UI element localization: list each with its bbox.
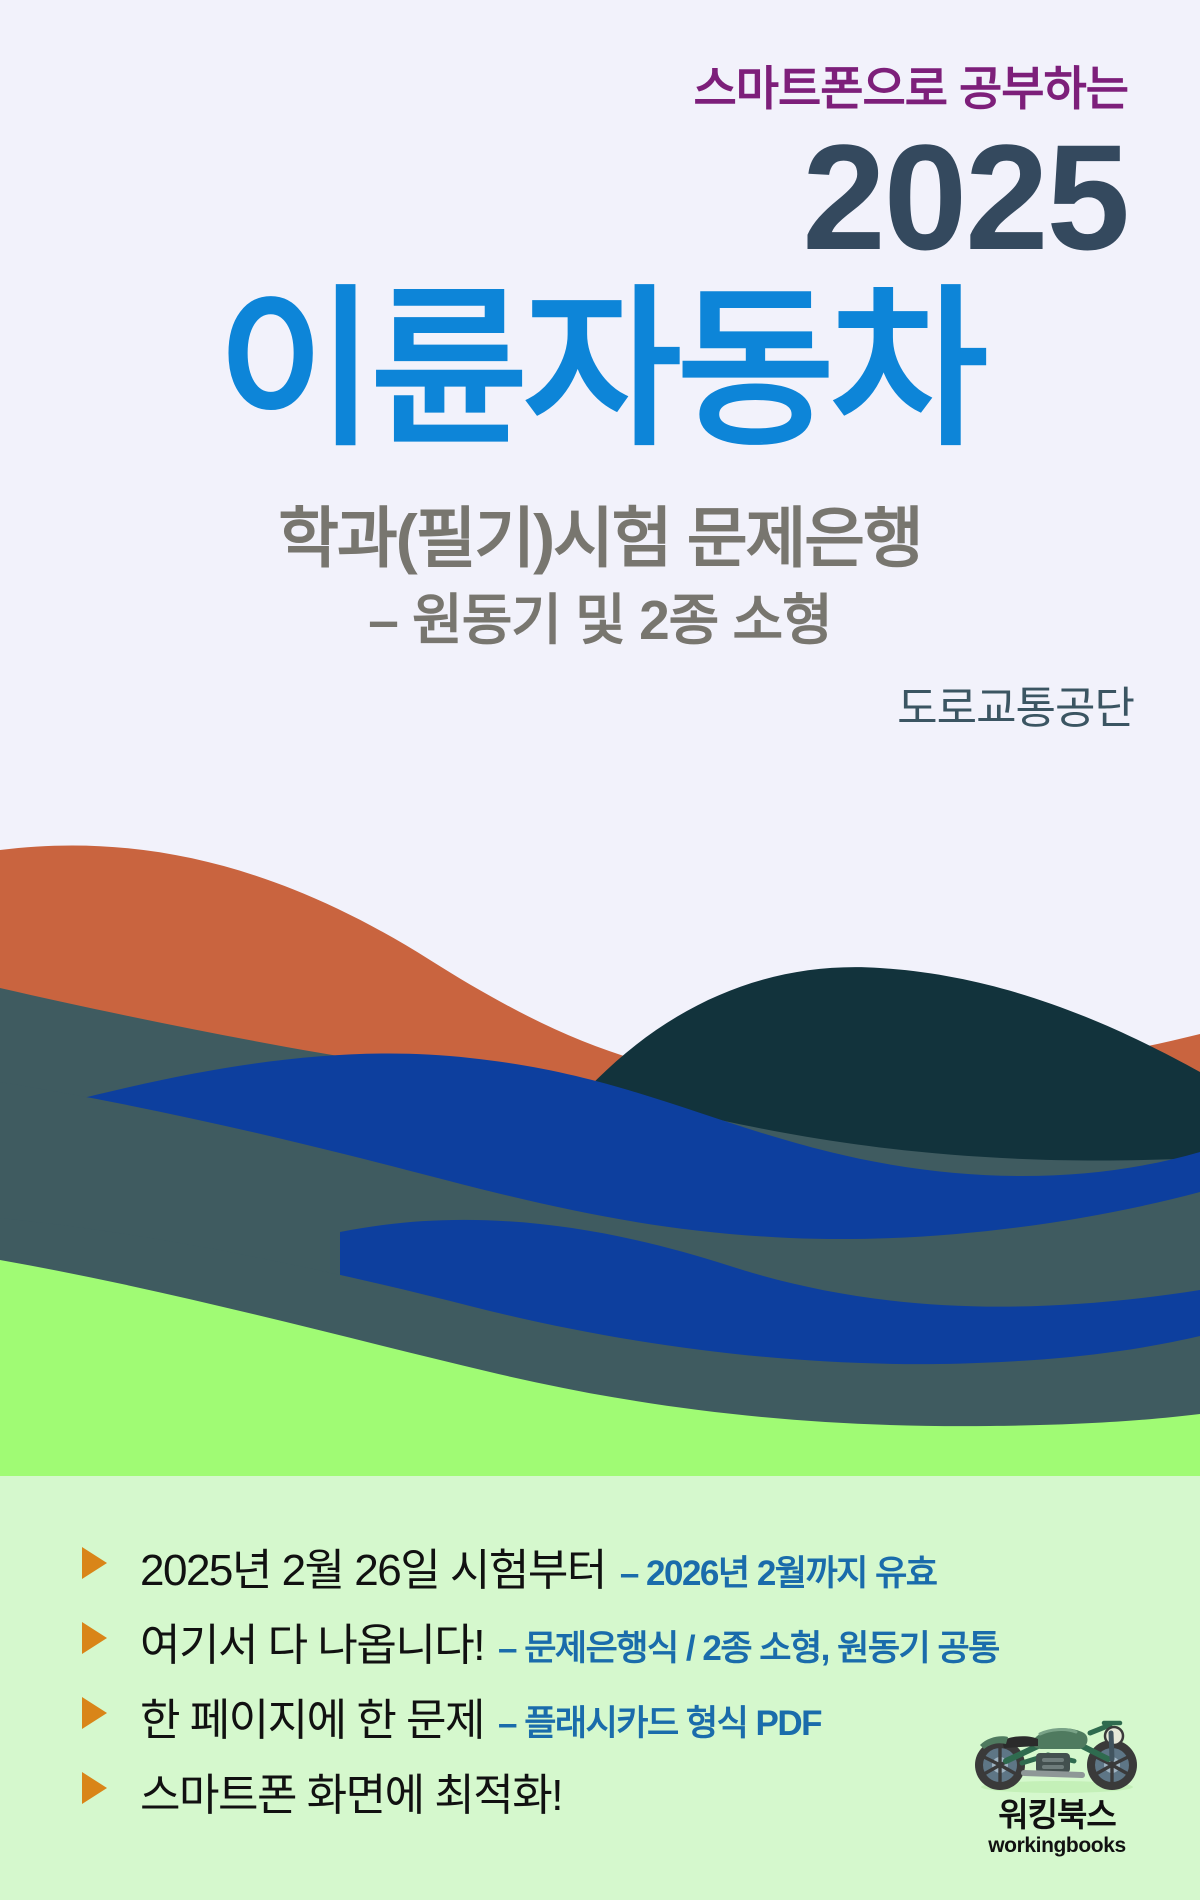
- cover-publisher: 도로교통공단: [897, 672, 1134, 736]
- triangle-bullet-icon: [82, 1697, 107, 1729]
- feature-accent-text: – 문제은행식 / 2종 소형, 원동기 공통: [498, 1620, 999, 1671]
- feature-main-text: 여기서 다 나옵니다!: [140, 1609, 484, 1673]
- cover-main-title: 이륜자동차: [0, 280, 1200, 456]
- feature-accent-text: – 2026년 2월까지 유효: [620, 1545, 937, 1596]
- publisher-logo: 워킹북스 workingbooks: [952, 1703, 1162, 1858]
- motorcycle-icon: [962, 1703, 1152, 1795]
- feature-item: 여기서 다 나옵니다! – 문제은행식 / 2종 소형, 원동기 공통: [82, 1609, 1200, 1684]
- wave-illustration: [0, 820, 1200, 1480]
- cover-kicker: 스마트폰으로 공부하는: [0, 0, 1128, 116]
- triangle-bullet-icon: [82, 1772, 107, 1804]
- cover-subtitle: 학과(필기)시험 문제은행: [0, 500, 1200, 578]
- feature-main-text: 2025년 2월 26일 시험부터: [140, 1534, 606, 1598]
- publisher-logo-name-ko: 워킹북스: [952, 1797, 1162, 1833]
- feature-item: 2025년 2월 26일 시험부터 – 2026년 2월까지 유효: [82, 1534, 1200, 1609]
- feature-accent-text: – 플래시카드 형식 PDF: [498, 1695, 821, 1746]
- book-cover: 스마트폰으로 공부하는 2025 이륜자동차 학과(필기)시험 문제은행 – 원…: [0, 0, 1200, 1900]
- cover-subtitle-secondary: – 원동기 및 2종 소형: [0, 588, 1200, 653]
- cover-year: 2025: [0, 116, 1128, 272]
- feature-panel: 2025년 2월 26일 시험부터 – 2026년 2월까지 유효 여기서 다 …: [0, 1476, 1200, 1900]
- triangle-bullet-icon: [82, 1622, 107, 1654]
- feature-main-text: 한 페이지에 한 문제: [140, 1684, 484, 1748]
- triangle-bullet-icon: [82, 1547, 107, 1579]
- publisher-logo-name-en: workingbooks: [952, 1833, 1162, 1858]
- feature-main-text: 스마트폰 화면에 최적화!: [140, 1759, 562, 1823]
